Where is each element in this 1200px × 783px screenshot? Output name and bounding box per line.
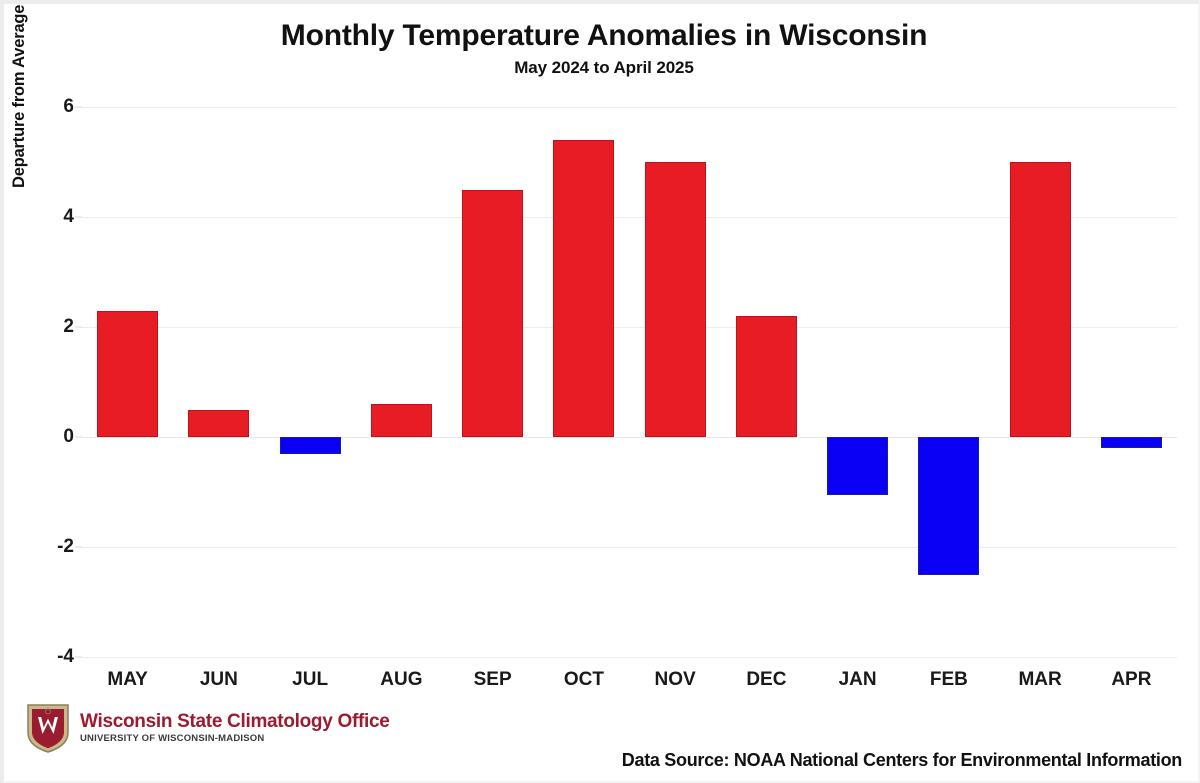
- x-tick-label-apr: APR: [1111, 669, 1151, 691]
- logo-text-block: Wisconsin State Climatology Office UNIVE…: [80, 712, 390, 745]
- bar-nov[interactable]: [645, 162, 706, 437]
- bar-jan[interactable]: [827, 437, 888, 495]
- title-block: Monthly Temperature Anomalies in Wiscons…: [4, 20, 1200, 78]
- y-tick-label--2: -2: [57, 536, 74, 558]
- y-tick-label-6: 6: [63, 96, 74, 118]
- x-tick-label-jan: JAN: [839, 669, 877, 691]
- gridline-y-6: [82, 107, 1177, 108]
- y-tick-mark--2: [75, 547, 82, 548]
- y-tick-mark-0: [75, 437, 82, 438]
- y-tick-label--4: -4: [57, 646, 74, 668]
- y-axis-title: Departure from Average (degrees Fahrenhe…: [10, 0, 29, 188]
- x-tick-label-dec: DEC: [746, 669, 786, 691]
- chart-figure: Monthly Temperature Anomalies in Wiscons…: [0, 0, 1200, 783]
- y-tick-mark-4: [75, 217, 82, 218]
- bar-dec[interactable]: [736, 316, 797, 437]
- x-tick-label-oct: OCT: [564, 669, 604, 691]
- y-tick-label-4: 4: [63, 206, 74, 228]
- x-tick-label-sep: SEP: [474, 669, 512, 691]
- y-tick-label-0: 0: [63, 426, 74, 448]
- institution-name: UNIVERSITY OF WISCONSIN-MADISON: [80, 733, 390, 744]
- y-tick-mark-6: [75, 107, 82, 108]
- y-tick-label-2: 2: [63, 316, 74, 338]
- bar-apr[interactable]: [1101, 437, 1162, 448]
- bar-feb[interactable]: [918, 437, 979, 575]
- x-tick-label-nov: NOV: [655, 669, 696, 691]
- y-tick-mark--4: [75, 657, 82, 658]
- y-tick-mark-2: [75, 327, 82, 328]
- gridline-y-0: [82, 437, 1177, 438]
- office-name: Wisconsin State Climatology Office: [80, 712, 390, 732]
- x-tick-label-mar: MAR: [1018, 669, 1061, 691]
- chart-title: Monthly Temperature Anomalies in Wiscons…: [4, 20, 1200, 52]
- x-tick-label-feb: FEB: [930, 669, 968, 691]
- bar-sep[interactable]: [462, 190, 523, 438]
- bar-oct[interactable]: [553, 140, 614, 437]
- bar-aug[interactable]: [371, 404, 432, 437]
- bar-may[interactable]: [97, 311, 158, 438]
- uw-crest-icon: [26, 703, 70, 753]
- x-tick-label-jun: JUN: [200, 669, 238, 691]
- chart-subtitle: May 2024 to April 2025: [4, 58, 1200, 78]
- climatology-office-logo: Wisconsin State Climatology Office UNIVE…: [26, 703, 390, 753]
- x-tick-label-may: MAY: [107, 669, 147, 691]
- bar-jun[interactable]: [188, 410, 249, 438]
- gridline-y--4: [82, 657, 1177, 658]
- gridline-y--2: [82, 547, 1177, 548]
- bar-jul[interactable]: [280, 437, 341, 454]
- plot-area: 6420-2-4MAYJUNJULAUGSEPOCTNOVDECJANFEBMA…: [82, 107, 1177, 657]
- x-tick-label-aug: AUG: [380, 669, 422, 691]
- bar-mar[interactable]: [1010, 162, 1071, 437]
- data-source-note: Data Source: NOAA National Centers for E…: [622, 750, 1182, 771]
- x-tick-label-jul: JUL: [292, 669, 328, 691]
